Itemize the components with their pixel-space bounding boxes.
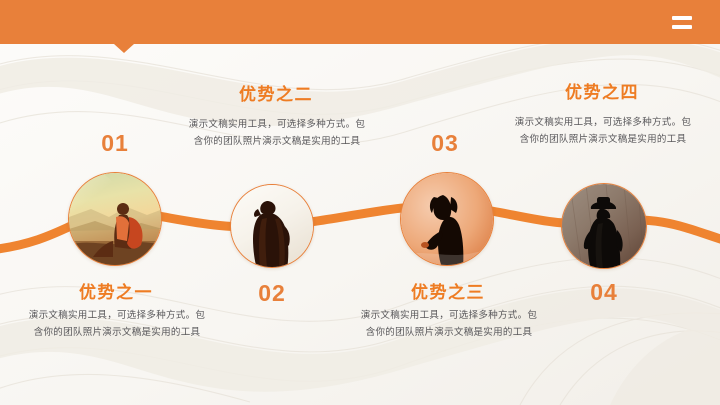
header-notch-arrow (114, 44, 134, 53)
item-number: 04 (561, 279, 647, 306)
menu-bar-2 (672, 25, 692, 29)
item-number: 01 (72, 130, 158, 157)
item-number: 02 (229, 280, 315, 307)
item-body: 演示文稿实用工具，可选择多种方式。包含你的团队照片演示文稿是实用的工具 (188, 116, 366, 150)
item-title: 优势之一 (58, 278, 174, 303)
item-body: 演示文稿实用工具，可选择多种方式。包含你的团队照片演示文稿是实用的工具 (514, 114, 692, 148)
slide-canvas: 自我优势评价 01 (0, 0, 720, 405)
item-title: 优势之三 (390, 278, 506, 303)
item-body: 演示文稿实用工具，可选择多种方式。包含你的团队照片演示文稿是实用的工具 (28, 307, 206, 341)
header-bar (0, 0, 720, 44)
item-body: 演示文稿实用工具，可选择多种方式。包含你的团队照片演示文稿是实用的工具 (360, 307, 538, 341)
item-title: 优势之二 (214, 80, 338, 105)
item-title: 优势之四 (540, 78, 664, 103)
person-wearing-hat-photo[interactable] (561, 183, 647, 269)
menu-bar-1 (672, 16, 692, 20)
hamburger-menu-icon[interactable] (672, 16, 692, 29)
hiker-at-sunset-photo[interactable] (68, 172, 162, 266)
person-with-phone-photo[interactable] (400, 172, 494, 266)
person-in-puffer-jacket-photo[interactable] (230, 184, 314, 268)
item-number: 03 (402, 130, 488, 157)
